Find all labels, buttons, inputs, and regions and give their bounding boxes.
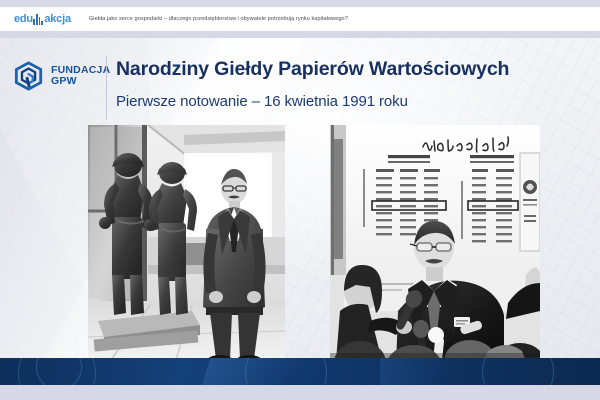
photo-sculpture [88,125,285,367]
photo-sculpture-illustration [88,125,285,367]
slide-bottom-rule [0,385,600,400]
gpw-wordmark-line2: GPW [51,76,110,87]
footer-sheen-decoration [198,358,333,385]
footer-ring-decoration [482,358,554,385]
fundacja-gpw-logo: FUNDACJA GPW [14,61,110,91]
bar-chart-icon [33,14,43,25]
header-top-rule [0,0,600,7]
presentation-slide[interactable]: FUNDACJA GPW Narodziny Giełdy Papierów W… [0,38,600,400]
brand-suffix: akcja [44,14,71,25]
fundacja-gpw-wordmark: FUNDACJA GPW [51,65,110,86]
edualakcja-logo[interactable]: edu akcja [14,14,71,25]
footer-sheen-decoration [380,358,470,385]
header-bottom-rule [0,31,600,38]
slide-subtitle: Pierwsze notowanie – 16 kwietnia 1991 ro… [116,93,586,110]
photo-press [330,125,540,367]
photo-press-illustration [330,125,540,367]
slide-footer-band [0,358,600,385]
brand-prefix: edu [14,14,33,25]
gpw-hexagon-logo-icon [14,61,44,91]
footer-ring-decoration [36,358,82,385]
logo-title-divider [106,56,107,120]
slide-title: Narodziny Giełdy Papierów Wartościowych [116,58,586,81]
lesson-title: Giełda jako serce gospodarki – dlaczego … [89,16,348,22]
